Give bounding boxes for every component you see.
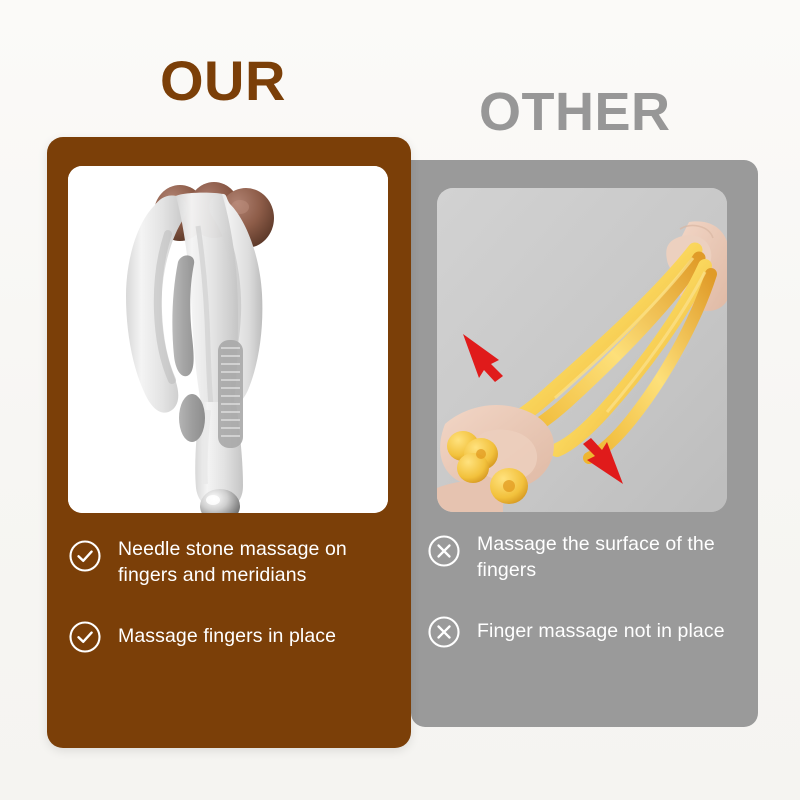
x-circle-icon — [427, 534, 461, 568]
page-title-our: OUR — [160, 53, 286, 109]
feature-text: Massage fingers in place — [118, 624, 336, 650]
product-photo-other — [437, 188, 727, 512]
list-item: Massage fingers in place — [68, 618, 398, 654]
panel-other: Massage the surface of the fingers Finge… — [411, 160, 758, 727]
feature-text: Finger massage not in place — [477, 619, 725, 645]
list-item: Needle stone massage on fingers and meri… — [68, 537, 398, 588]
comparison-infographic: OUR OTHER — [0, 0, 800, 800]
list-item: Massage the surface of the fingers — [427, 532, 752, 583]
check-circle-icon — [68, 620, 102, 654]
feature-list-other: Massage the surface of the fingers Finge… — [427, 532, 752, 679]
feature-text: Needle stone massage on fingers and meri… — [118, 537, 398, 588]
feature-list-our: Needle stone massage on fingers and meri… — [68, 537, 398, 684]
product-photo-our — [68, 166, 388, 513]
page-title-other: OTHER — [479, 85, 671, 139]
product-image-card-our — [68, 166, 388, 513]
check-circle-icon — [68, 539, 102, 573]
x-circle-icon — [427, 615, 461, 649]
product-image-card-other — [437, 188, 727, 512]
feature-text: Massage the surface of the fingers — [477, 532, 752, 583]
panel-our: Needle stone massage on fingers and meri… — [47, 137, 411, 748]
list-item: Finger massage not in place — [427, 613, 752, 649]
